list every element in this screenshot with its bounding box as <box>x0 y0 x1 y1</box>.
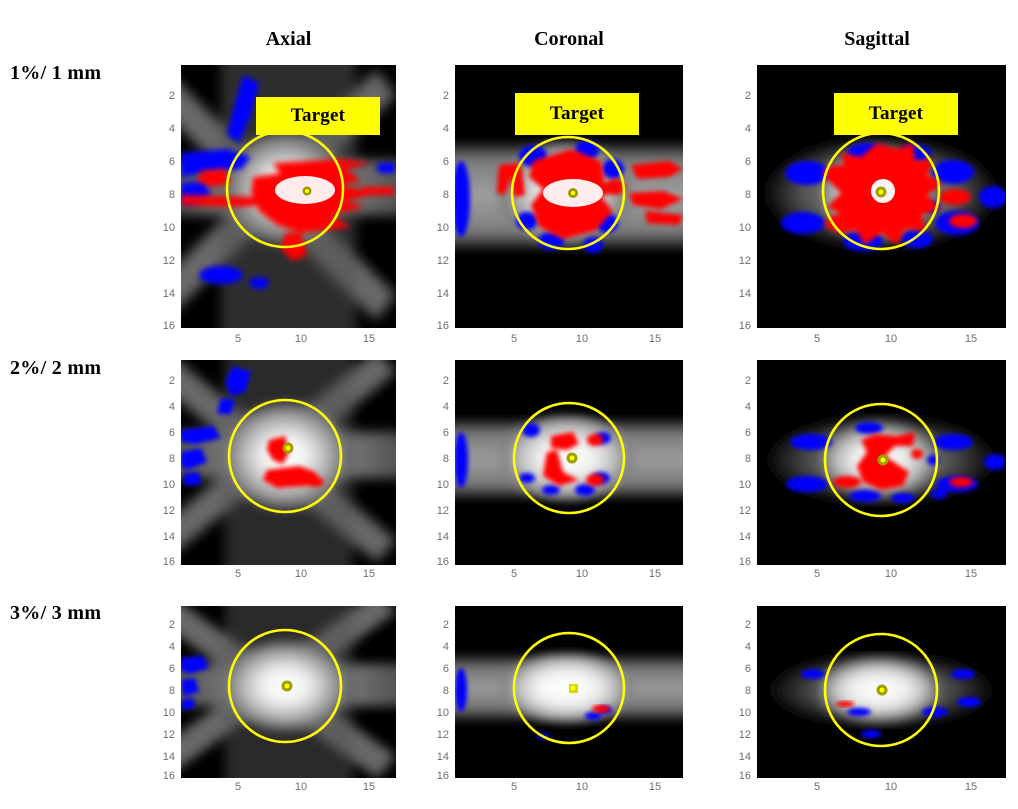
panel-sagittal-3pct: 2 4 6 8 10 12 14 16 5 10 15 <box>757 606 1006 778</box>
panel-axial-3pct: 2 4 6 8 10 12 14 16 5 10 15 <box>181 606 396 778</box>
y-tick-label: 6 <box>429 157 449 168</box>
y-tick-label: 8 <box>155 190 175 201</box>
y-tick-label: 6 <box>731 428 751 439</box>
y-tick-label: 6 <box>429 664 449 675</box>
y-tick-label: 6 <box>155 664 175 675</box>
y-tick-label: 2 <box>429 376 449 387</box>
y-tick-label: 14 <box>149 752 175 763</box>
y-tick-label: 10 <box>149 480 175 491</box>
column-header-axial: Axial <box>181 28 396 51</box>
y-tick-label: 4 <box>429 402 449 413</box>
target-callout: Target <box>256 97 380 135</box>
y-tick-label: 12 <box>423 256 449 267</box>
plot-area <box>181 606 396 778</box>
y-tick-label: 16 <box>149 771 175 782</box>
y-tick-label: 4 <box>155 402 175 413</box>
plot-area <box>757 360 1006 565</box>
x-tick-label: 15 <box>959 334 983 345</box>
column-header-coronal: Coronal <box>455 28 683 51</box>
y-tick-label: 12 <box>149 256 175 267</box>
y-tick-label: 4 <box>731 642 751 653</box>
y-tick-label: 12 <box>149 730 175 741</box>
x-tick-label: 15 <box>357 334 381 345</box>
x-tick-label: 15 <box>643 334 667 345</box>
panel-coronal-3pct: 2 4 6 8 10 12 14 16 5 10 15 <box>455 606 683 778</box>
x-tick-label: 5 <box>504 334 524 345</box>
y-tick-label: 14 <box>149 289 175 300</box>
y-tick-label: 4 <box>429 124 449 135</box>
y-tick-label: 8 <box>731 454 751 465</box>
y-tick-label: 4 <box>155 642 175 653</box>
y-tick-label: 16 <box>149 557 175 568</box>
y-tick-label: 14 <box>725 289 751 300</box>
x-tick-label: 10 <box>570 569 594 580</box>
y-tick-label: 12 <box>423 506 449 517</box>
y-tick-label: 4 <box>155 124 175 135</box>
row-label-1pct-1mm: 1%/ 1 mm <box>10 62 101 85</box>
x-tick-label: 10 <box>570 334 594 345</box>
plot-area <box>757 606 1006 778</box>
y-tick-label: 8 <box>429 454 449 465</box>
y-tick-label: 16 <box>725 771 751 782</box>
y-tick-label: 10 <box>423 480 449 491</box>
y-tick-label: 2 <box>155 376 175 387</box>
x-tick-label: 5 <box>228 569 248 580</box>
y-tick-label: 16 <box>423 321 449 332</box>
x-tick-label: 5 <box>504 569 524 580</box>
y-tick-label: 14 <box>725 532 751 543</box>
y-tick-label: 16 <box>725 321 751 332</box>
y-tick-label: 8 <box>429 686 449 697</box>
y-tick-label: 16 <box>149 321 175 332</box>
y-tick-label: 10 <box>149 708 175 719</box>
y-tick-label: 10 <box>423 223 449 234</box>
panel-coronal-2pct: 2 4 6 8 10 12 14 16 5 10 15 <box>455 360 683 565</box>
y-tick-label: 12 <box>725 730 751 741</box>
y-tick-label: 8 <box>429 190 449 201</box>
x-tick-label: 10 <box>289 334 313 345</box>
y-tick-label: 2 <box>731 91 751 102</box>
y-tick-label: 12 <box>423 730 449 741</box>
x-tick-label: 5 <box>807 782 827 793</box>
target-callout: Target <box>834 93 958 135</box>
x-tick-label: 5 <box>228 782 248 793</box>
x-tick-label: 5 <box>504 782 524 793</box>
panel-axial-2pct: 2 4 6 8 10 12 14 16 5 10 15 <box>181 360 396 565</box>
plot-area <box>455 606 683 778</box>
y-tick-label: 2 <box>155 620 175 631</box>
plot-area <box>455 360 683 565</box>
y-tick-label: 8 <box>731 190 751 201</box>
y-tick-label: 10 <box>149 223 175 234</box>
y-tick-label: 6 <box>731 664 751 675</box>
y-tick-label: 10 <box>725 480 751 491</box>
y-tick-label: 12 <box>149 506 175 517</box>
gamma-analysis-figure: Axial Coronal Sagittal 1%/ 1 mm 2%/ 2 mm… <box>0 0 1018 809</box>
y-tick-label: 14 <box>423 752 449 763</box>
y-tick-label: 8 <box>155 686 175 697</box>
panel-coronal-1pct: Target 2 4 6 8 10 12 14 16 5 10 15 <box>455 65 683 328</box>
x-tick-label: 10 <box>289 569 313 580</box>
y-tick-label: 14 <box>423 532 449 543</box>
y-tick-label: 8 <box>731 686 751 697</box>
x-tick-label: 5 <box>807 334 827 345</box>
y-tick-label: 16 <box>423 557 449 568</box>
y-tick-label: 2 <box>731 620 751 631</box>
y-tick-label: 16 <box>423 771 449 782</box>
x-tick-label: 10 <box>879 334 903 345</box>
column-header-sagittal: Sagittal <box>757 28 997 51</box>
y-tick-label: 6 <box>731 157 751 168</box>
y-tick-label: 2 <box>429 620 449 631</box>
x-tick-label: 15 <box>643 782 667 793</box>
y-tick-label: 6 <box>155 157 175 168</box>
panel-sagittal-2pct: 2 4 6 8 10 12 14 16 5 10 15 <box>757 360 1006 565</box>
x-tick-label: 15 <box>357 569 381 580</box>
y-tick-label: 6 <box>155 428 175 439</box>
x-tick-label: 15 <box>643 569 667 580</box>
row-label-3pct-3mm: 3%/ 3 mm <box>10 602 101 625</box>
x-tick-label: 10 <box>289 782 313 793</box>
y-tick-label: 4 <box>731 402 751 413</box>
x-tick-label: 15 <box>959 569 983 580</box>
panel-axial-1pct: Target 2 4 6 8 10 12 14 16 5 10 15 <box>181 65 396 328</box>
y-tick-label: 14 <box>149 532 175 543</box>
y-tick-label: 14 <box>423 289 449 300</box>
y-tick-label: 14 <box>725 752 751 763</box>
panel-sagittal-1pct: Target 2 4 6 8 10 12 14 16 5 10 15 <box>757 65 1006 328</box>
x-tick-label: 10 <box>570 782 594 793</box>
y-tick-label: 2 <box>429 91 449 102</box>
y-tick-label: 4 <box>429 642 449 653</box>
x-tick-label: 10 <box>879 782 903 793</box>
y-tick-label: 2 <box>731 376 751 387</box>
y-tick-label: 8 <box>155 454 175 465</box>
y-tick-label: 16 <box>725 557 751 568</box>
x-tick-label: 5 <box>807 569 827 580</box>
y-tick-label: 6 <box>429 428 449 439</box>
x-tick-label: 10 <box>879 569 903 580</box>
y-tick-label: 10 <box>725 708 751 719</box>
target-callout: Target <box>515 93 639 135</box>
x-tick-label: 5 <box>228 334 248 345</box>
x-tick-label: 15 <box>959 782 983 793</box>
plot-area <box>181 360 396 565</box>
row-label-2pct-2mm: 2%/ 2 mm <box>10 357 101 380</box>
y-tick-label: 12 <box>725 506 751 517</box>
y-tick-label: 10 <box>725 223 751 234</box>
y-tick-label: 2 <box>155 91 175 102</box>
y-tick-label: 10 <box>423 708 449 719</box>
y-tick-label: 4 <box>731 124 751 135</box>
y-tick-label: 12 <box>725 256 751 267</box>
x-tick-label: 15 <box>357 782 381 793</box>
